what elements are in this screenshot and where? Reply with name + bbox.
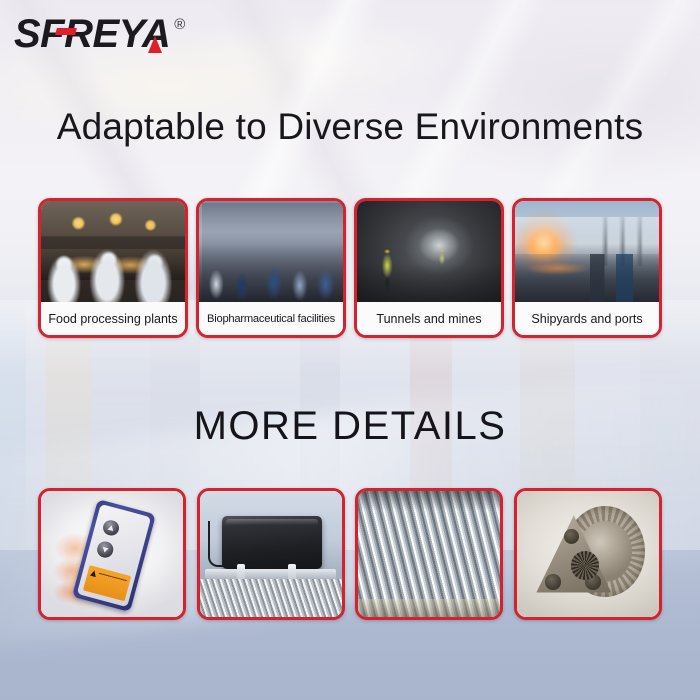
brand-name-text: SFREYA — [14, 12, 170, 56]
environment-label-tunnels-mines: Tunnels and mines — [357, 302, 501, 335]
gear-bore-2 — [545, 574, 561, 590]
remote-warning-label — [83, 565, 131, 601]
detail-card-row — [38, 488, 662, 620]
environment-card-shipyards-ports[interactable]: Shipyards and ports — [512, 198, 662, 338]
product-marketing-banner: SFREYA ® Adaptable to Diverse Environmen… — [0, 0, 700, 700]
remote-down-arrow-button-icon — [95, 540, 114, 559]
registered-trademark-icon: ® — [174, 16, 185, 33]
brand-red-slash-icon — [55, 28, 77, 35]
detail-photo-control-box — [200, 491, 342, 617]
control-box-housing — [222, 516, 321, 569]
remote-faceplate — [76, 504, 150, 607]
environment-card-biopharmaceutical[interactable]: Biopharmaceutical facilities — [196, 198, 346, 338]
remote-up-arrow-button-icon — [101, 518, 120, 537]
section-title-more-details: MORE DETAILS — [0, 404, 700, 449]
environment-card-food-processing[interactable]: Food processing plants — [38, 198, 188, 338]
detail-card-wire-rope[interactable] — [355, 488, 503, 620]
environment-card-tunnels-mines[interactable]: Tunnels and mines — [354, 198, 504, 338]
detail-card-remote-control[interactable] — [38, 488, 186, 620]
environment-photo-tunnels-mines — [357, 201, 501, 302]
content-layer: SFREYA ® Adaptable to Diverse Environmen… — [0, 0, 700, 700]
brand-red-triangle-icon — [148, 36, 162, 53]
environment-photo-biopharmaceutical — [199, 201, 343, 302]
environment-card-row: Food processing plants Biopharmaceutical… — [38, 198, 662, 338]
environment-photo-food-processing — [41, 201, 185, 302]
detail-card-gear-assembly[interactable] — [514, 488, 662, 620]
detail-photo-remote-control — [41, 491, 183, 617]
environment-label-shipyards-ports: Shipyards and ports — [515, 302, 659, 335]
environment-label-food-processing: Food processing plants — [41, 302, 185, 335]
detail-photo-wire-rope-coil — [358, 491, 500, 617]
environment-photo-shipyards-ports — [515, 201, 659, 302]
environment-label-biopharmaceutical: Biopharmaceutical facilities — [199, 302, 343, 335]
gear-center-spline — [571, 551, 599, 579]
control-box-wire-rope — [200, 579, 342, 617]
detail-photo-gear-assembly — [517, 491, 659, 617]
detail-card-control-box[interactable] — [197, 488, 345, 620]
brand-logo: SFREYA ® — [14, 14, 185, 54]
remote-control-body — [72, 499, 156, 612]
brand-wordmark: SFREYA — [14, 14, 170, 54]
page-title: Adaptable to Diverse Environments — [0, 106, 700, 148]
